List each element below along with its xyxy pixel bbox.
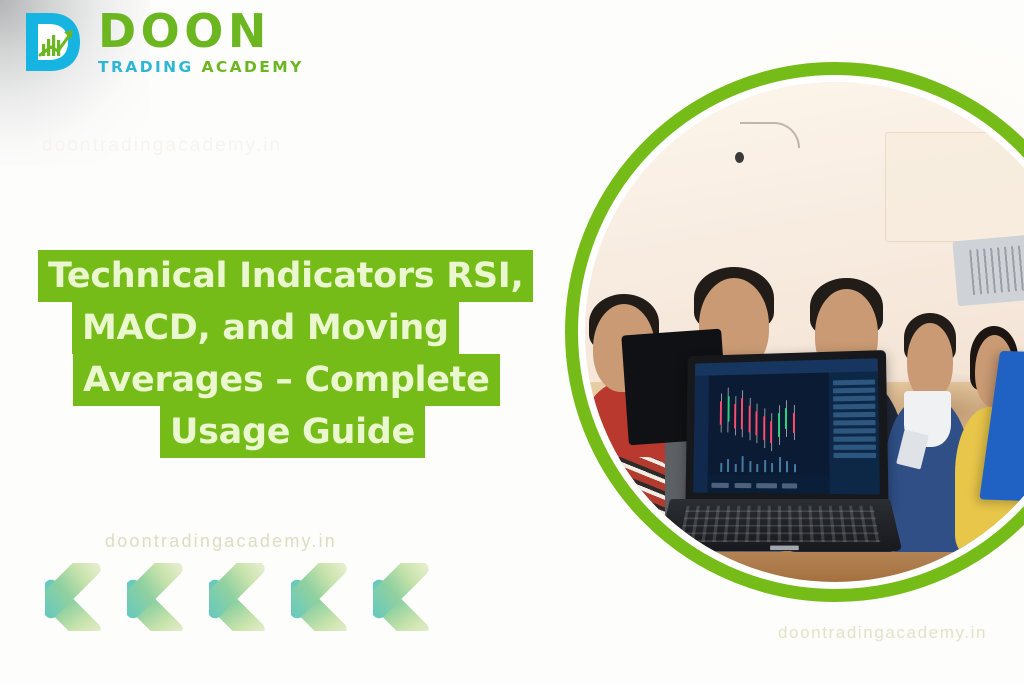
doon-d-chart-logo-icon — [18, 8, 84, 76]
hero-photo — [585, 82, 1024, 582]
tagline-word-academy: ACADEMY — [201, 58, 303, 76]
brand-wordmark: DOON TRADING ACADEMY — [98, 8, 304, 76]
headline-line-1: Technical Indicators RSI, — [38, 250, 533, 302]
headline-line-3: Averages – Complete — [73, 354, 500, 406]
headline-line-2: MACD, and Moving — [72, 302, 459, 354]
watermark-bottom: doontradingacademy.in — [778, 623, 987, 643]
wall-panel — [885, 132, 1024, 242]
website-url-label: doontradingacademy.in — [105, 531, 337, 552]
laptop-keyboard — [658, 499, 903, 551]
watermark-top: doontradingacademy.in — [42, 135, 282, 157]
wall-fixture — [735, 152, 744, 163]
chevron-decoration-row — [45, 563, 465, 631]
chevron-left-icon — [291, 563, 359, 631]
chevron-left-icon — [209, 563, 277, 631]
laptop-brand-mark — [770, 545, 799, 550]
brand-tagline: TRADING ACADEMY — [98, 60, 304, 76]
chevron-left-icon — [45, 563, 113, 631]
brand-logo[interactable]: DOON TRADING ACADEMY — [18, 8, 304, 76]
hero-photo-ring — [565, 62, 1024, 602]
tagline-word-trading: TRADING — [98, 58, 194, 76]
trading-chart-screen — [693, 358, 880, 495]
laptop-background — [952, 233, 1024, 306]
banner-canvas: DOON TRADING ACADEMY doontradingacademy.… — [0, 0, 1024, 683]
chevron-left-icon — [127, 563, 195, 631]
headline-line-4: Usage Guide — [160, 406, 425, 458]
brand-name: DOON — [98, 8, 304, 54]
chevron-left-icon — [373, 563, 441, 631]
laptop-trading-chart — [670, 352, 890, 562]
page-title: Technical Indicators RSI, MACD, and Movi… — [38, 250, 558, 458]
